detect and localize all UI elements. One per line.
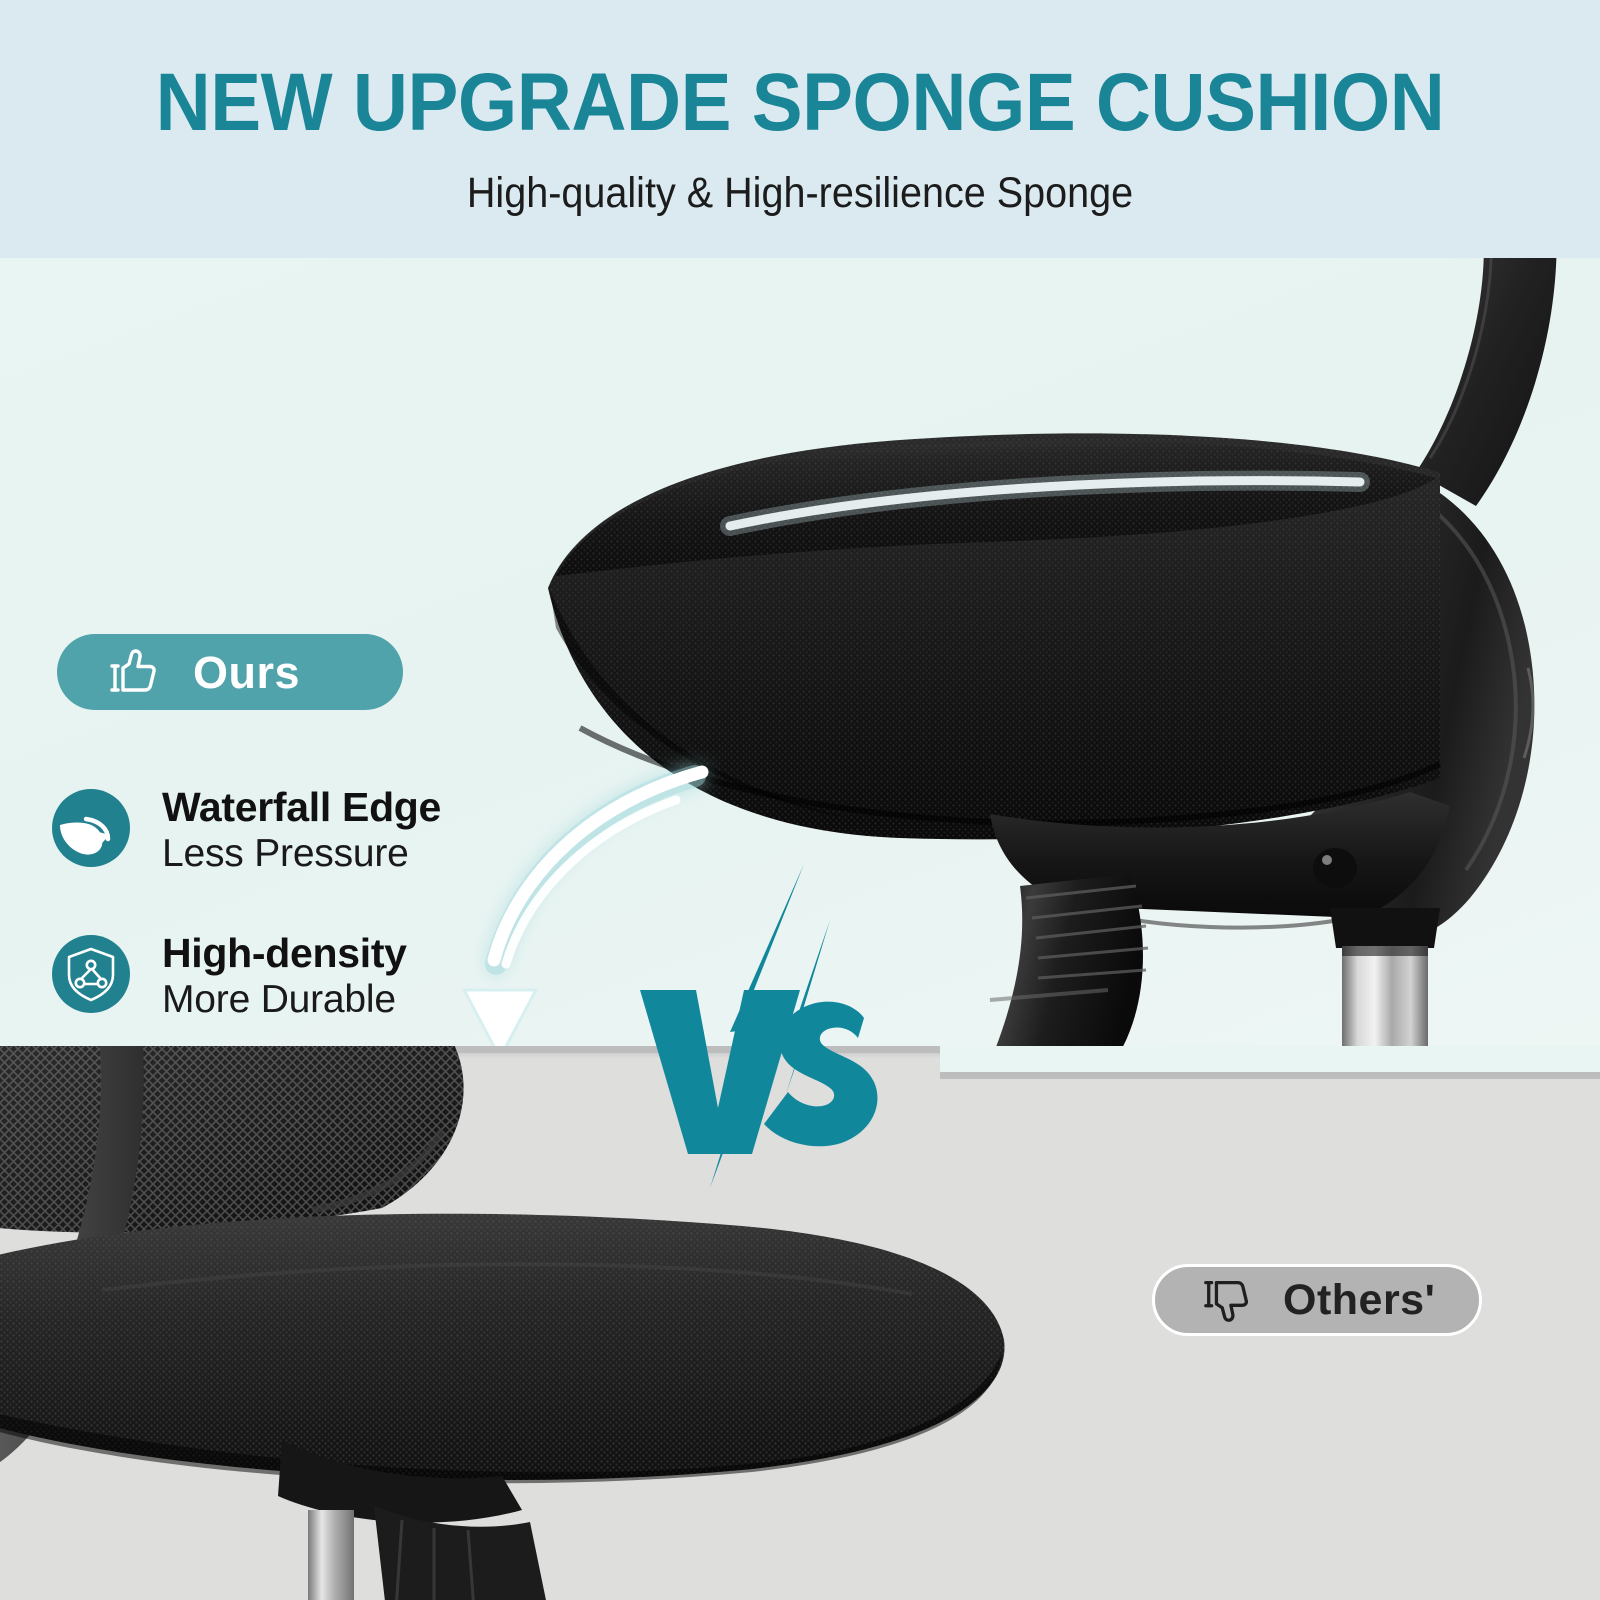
thumbs-up-icon <box>107 644 163 700</box>
product-comparison-infographic: NEW UPGRADE SPONGE CUSHION High-quality … <box>0 0 1600 1600</box>
page-subtitle: High-quality & High-resilience Sponge <box>64 172 1536 215</box>
feature-list: Waterfall Edge Less Pressure High-densit… <box>52 783 522 1072</box>
feature-sub: Less Pressure <box>162 831 441 878</box>
others-panel: Others' <box>0 1046 1600 1600</box>
waterfall-edge-icon <box>52 789 130 867</box>
page-title: NEW UPGRADE SPONGE CUSHION <box>56 62 1544 144</box>
ours-badge-label: Ours <box>193 650 300 695</box>
others-chair-illustration <box>0 1046 1162 1600</box>
others-product-photo <box>0 1046 1162 1600</box>
ours-badge[interactable]: Ours <box>57 634 403 710</box>
shield-density-icon <box>52 935 130 1013</box>
waterfall-edge-arrow <box>440 728 1060 1072</box>
feature-heading: Waterfall Edge <box>162 784 441 830</box>
feature-heading: High-density <box>162 930 407 976</box>
others-seat-cushion <box>0 1190 1032 1510</box>
others-badge[interactable]: Others' <box>1152 1264 1482 1336</box>
feature-text: Waterfall Edge Less Pressure <box>162 783 441 878</box>
feature-item-waterfall-edge: Waterfall Edge Less Pressure <box>52 783 522 929</box>
thumbs-down-icon <box>1201 1273 1255 1327</box>
chair-backrest-frame <box>1416 258 1557 506</box>
feature-text: High-density More Durable <box>162 929 407 1024</box>
feature-sub: More Durable <box>162 977 407 1024</box>
ours-panel: Ours Waterfall Edge Less Pressure <box>0 258 1600 1072</box>
header-band: NEW UPGRADE SPONGE CUSHION High-quality … <box>0 0 1600 258</box>
others-badge-label: Others' <box>1283 1279 1435 1322</box>
